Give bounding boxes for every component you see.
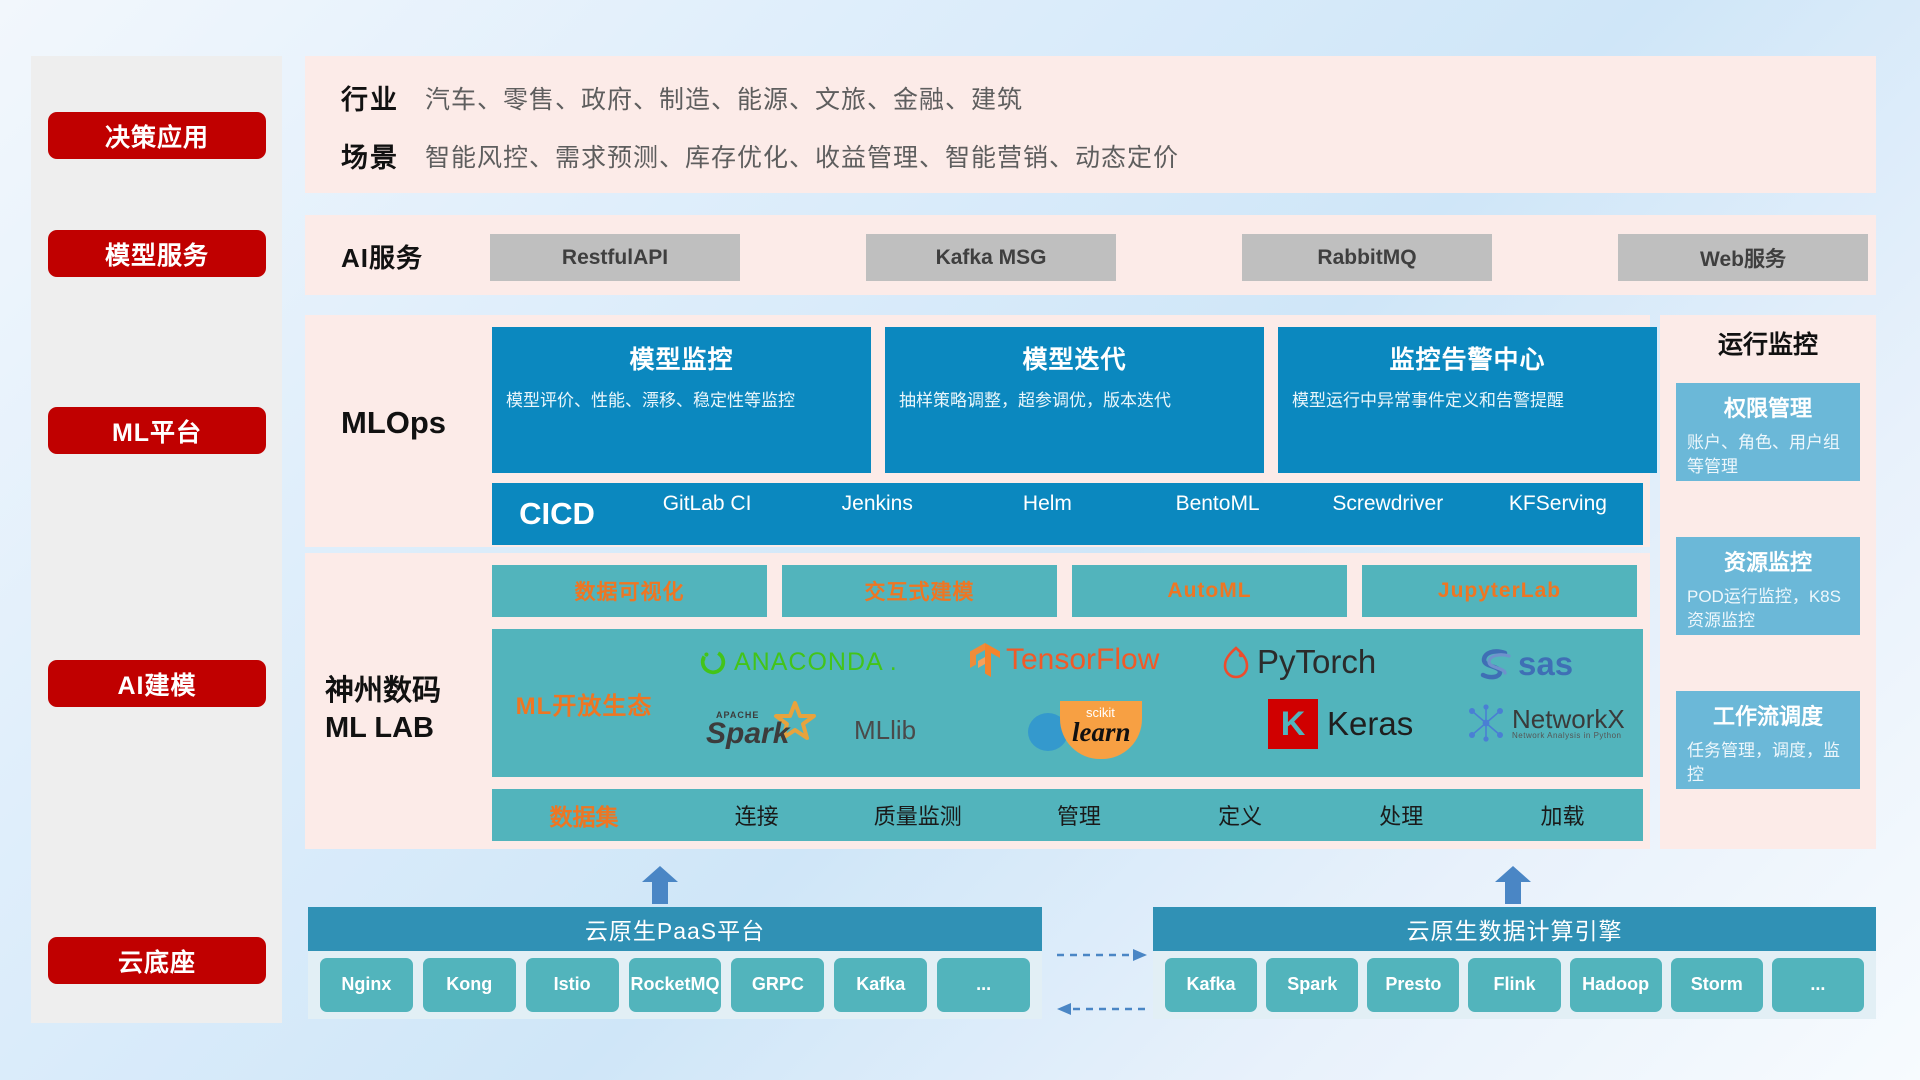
cicd-title: CICD [492,496,622,532]
mlops-card-title: 监控告警中心 [1292,340,1643,376]
monitor-card-permission[interactable]: 权限管理 账户、角色、用户组等管理 [1676,383,1860,481]
cloud-native-paas-stack: 云原生PaaS平台 Nginx Kong Istio RocketMQ GRPC… [308,907,1042,1019]
monitor-card-title: 资源监控 [1687,545,1849,577]
networkx-wordmark: NetworkX [1512,706,1625,732]
industry-row: 行业 汽车、零售、政府、制造、能源、文旅、金融、建筑 [305,78,1023,117]
scene-row: 场景 智能风控、需求预测、库存优化、收益管理、智能营销、动态定价 [305,136,1179,175]
networkx-tagline: Network Analysis in Python [1512,732,1625,740]
layer-chip-label: 决策应用 [105,118,209,154]
cicd-item-screwdriver[interactable]: Screwdriver [1303,492,1473,536]
mlops-card-title: 模型迭代 [899,340,1250,376]
scikit-learn-logo: scikit learn [1028,701,1188,761]
anaconda-icon [698,647,728,677]
cicd-item-helm[interactable]: Helm [962,492,1132,536]
pytorch-logo: PyTorch [1221,643,1376,681]
layer-chip-ai-modeling[interactable]: AI建模 [48,660,266,707]
cicd-item-gitlab-ci[interactable]: GitLab CI [622,492,792,536]
ml-lab-label-line1: 神州数码 [325,673,441,710]
cicd-item-kfserving[interactable]: KFServing [1473,492,1643,536]
mlops-card-model-monitoring[interactable]: 模型监控 模型评价、性能、漂移、稳定性等监控 [492,327,871,473]
architecture-diagram: 决策应用 模型服务 ML平台 AI建模 云底座 行业 汽车、零售、政府、制造、能… [0,0,1920,1080]
layer-chip-label: ML平台 [112,413,202,449]
mllib-wordmark: MLlib [854,715,916,746]
cicd-item-jenkins[interactable]: Jenkins [792,492,962,536]
ml-lab-label-line2: ML LAB [325,710,441,747]
layer-chip-ml-platform[interactable]: ML平台 [48,407,266,454]
anaconda-logo: ANACONDA . [698,647,897,677]
data-engine-component-hadoop[interactable]: Hadoop [1570,958,1662,1012]
networkx-icon [1466,703,1506,743]
data-engine-stack-title: 云原生数据计算引擎 [1153,907,1876,951]
cicd-item-bentoml[interactable]: BentoML [1133,492,1303,536]
layer-rail [31,56,282,1023]
data-engine-component-storm[interactable]: Storm [1671,958,1763,1012]
tool-jupyterlab[interactable]: JupyterLab [1362,565,1637,617]
data-engine-component-spark[interactable]: Spark [1266,958,1358,1012]
spark-mllib-logo: APACHE Spark MLlib [706,704,916,756]
paas-component-kafka[interactable]: Kafka [834,958,927,1012]
dataset-title: 数据集 [492,798,676,832]
mlops-card-list: 模型监控 模型评价、性能、漂移、稳定性等监控 模型迭代 抽样策略调整，超参调优，… [492,327,1657,473]
tensorflow-wordmark: TensorFlow [1006,643,1159,677]
keras-logo: K Keras [1268,699,1413,749]
mlops-card-desc: 模型运行中异常事件定义和告警提醒 [1292,389,1643,414]
sas-wordmark: sas [1518,645,1573,683]
monitor-card-desc: 账户、角色、用户组等管理 [1687,431,1849,479]
dataset-item-load[interactable]: 加载 [1482,799,1643,831]
sas-logo: sas [1478,645,1573,683]
paas-component-nginx[interactable]: Nginx [320,958,413,1012]
data-engine-component-more[interactable]: ... [1772,958,1864,1012]
spark-wordmark: Spark [706,717,789,751]
keras-icon: K [1268,699,1318,749]
dataset-item-process[interactable]: 处理 [1321,799,1482,831]
ml-open-ecosystem-title: ML开放生态 [492,686,676,721]
ai-service-item-restfulapi[interactable]: RestfulAPI [490,234,740,281]
paas-stack-title: 云原生PaaS平台 [308,907,1042,951]
paas-component-grpc[interactable]: GRPC [731,958,824,1012]
layer-chip-model-service[interactable]: 模型服务 [48,230,266,277]
industry-value: 汽车、零售、政府、制造、能源、文旅、金融、建筑 [425,80,1023,116]
dataset-item-define[interactable]: 定义 [1160,799,1321,831]
paas-component-more[interactable]: ... [937,958,1030,1012]
mlops-card-desc: 抽样策略调整，超参调优，版本迭代 [899,389,1250,414]
pytorch-wordmark: PyTorch [1257,643,1376,681]
learn-text: learn [1072,717,1131,748]
monitor-card-desc: 任务管理，调度，监控 [1687,739,1849,787]
monitor-card-title: 权限管理 [1687,391,1849,423]
tool-automl[interactable]: AutoML [1072,565,1347,617]
ai-service-item-web-service[interactable]: Web服务 [1618,234,1868,281]
mlops-card-alert-center[interactable]: 监控告警中心 模型运行中异常事件定义和告警提醒 [1278,327,1657,473]
layer-chip-label: 云底座 [118,943,196,979]
ml-lab-label: 神州数码 ML LAB [325,673,441,747]
networkx-logo: NetworkX Network Analysis in Python [1466,703,1625,743]
ai-service-label: AI服务 [341,238,423,275]
industry-label: 行业 [305,78,425,117]
monitor-card-title: 工作流调度 [1687,699,1849,731]
ai-service-items: RestfulAPI Kafka MSG RabbitMQ Web服务 [490,234,1868,281]
monitor-card-desc: POD运行监控，K8S资源监控 [1687,585,1849,633]
paas-component-list: Nginx Kong Istio RocketMQ GRPC Kafka ... [308,951,1042,1019]
mlops-card-title: 模型监控 [506,340,857,376]
keras-wordmark: Keras [1327,705,1413,743]
scene-value: 智能风控、需求预测、库存优化、收益管理、智能营销、动态定价 [425,138,1179,174]
dashed-arrow-right [1057,948,1147,960]
monitor-card-workflow[interactable]: 工作流调度 任务管理，调度，监控 [1676,691,1860,789]
runtime-monitor-title: 运行监控 [1660,325,1876,361]
up-arrow-paas [640,866,680,904]
tensorflow-logo: TensorFlow [968,641,1159,679]
mlops-label: MLOps [341,405,446,441]
anaconda-dot: . [890,648,897,677]
layer-chip-cloud-base[interactable]: 云底座 [48,937,266,984]
cicd-bar: CICD GitLab CI Jenkins Helm BentoML Scre… [492,483,1643,545]
layer-chip-label: AI建模 [117,666,196,702]
layer-chip-decision-app[interactable]: 决策应用 [48,112,266,159]
monitor-card-resource[interactable]: 资源监控 POD运行监控，K8S资源监控 [1676,537,1860,635]
cloud-native-data-engine-stack: 云原生数据计算引擎 Kafka Spark Presto Flink Hadoo… [1153,907,1876,1019]
dataset-item-quality-monitor[interactable]: 质量监测 [837,799,998,831]
paas-component-kong[interactable]: Kong [423,958,516,1012]
scene-label: 场景 [305,136,425,175]
tool-interactive-modeling[interactable]: 交互式建模 [782,565,1057,617]
data-engine-component-list: Kafka Spark Presto Flink Hadoop Storm ..… [1153,951,1876,1019]
tensorflow-icon [968,641,1002,679]
dataset-item-list: 连接 质量监测 管理 定义 处理 加载 [676,799,1643,831]
data-engine-component-flink[interactable]: Flink [1468,958,1560,1012]
sas-icon [1478,647,1516,681]
mlops-card-model-iteration[interactable]: 模型迭代 抽样策略调整，超参调优，版本迭代 [885,327,1264,473]
dashed-arrow-left [1057,1002,1147,1014]
cicd-item-list: GitLab CI Jenkins Helm BentoML Screwdriv… [622,492,1643,536]
ai-service-item-kafka-msg[interactable]: Kafka MSG [866,234,1116,281]
ml-lab-tool-list: 数据可视化 交互式建模 AutoML JupyterLab [492,565,1637,617]
data-engine-component-presto[interactable]: Presto [1367,958,1459,1012]
paas-component-istio[interactable]: Istio [526,958,619,1012]
up-arrow-data-engine [1493,866,1533,904]
tool-data-visualization[interactable]: 数据可视化 [492,565,767,617]
ecosystem-logo-area: ANACONDA . APACHE Spark MLlib [676,629,1643,777]
pytorch-icon [1221,645,1251,679]
ai-service-item-rabbitmq[interactable]: RabbitMQ [1242,234,1492,281]
dataset-item-connect[interactable]: 连接 [676,799,837,831]
layer-chip-label: 模型服务 [105,236,209,272]
mlops-card-desc: 模型评价、性能、漂移、稳定性等监控 [506,389,857,414]
ml-open-ecosystem: ML开放生态 ANACONDA . APACHE Sp [492,629,1643,777]
spark-icon: APACHE Spark [706,704,824,756]
dataset-bar: 数据集 连接 质量监测 管理 定义 处理 加载 [492,789,1643,841]
anaconda-wordmark: ANACONDA [734,648,884,677]
paas-component-rocketmq[interactable]: RocketMQ [629,958,722,1012]
dataset-item-manage[interactable]: 管理 [998,799,1159,831]
data-engine-component-kafka[interactable]: Kafka [1165,958,1257,1012]
